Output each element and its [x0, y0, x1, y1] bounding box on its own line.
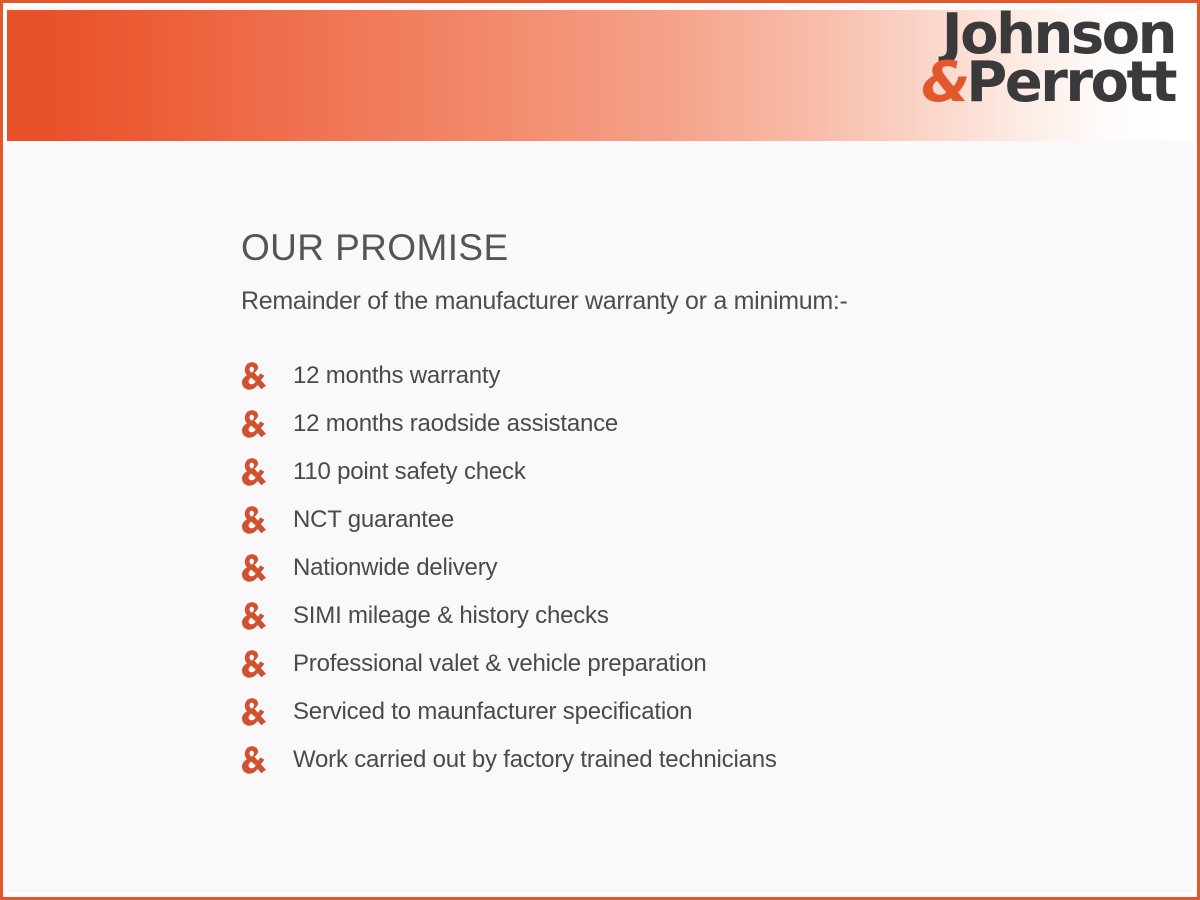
list-item: 12 months warranty: [241, 352, 1157, 400]
list-item: SIMI mileage & history checks: [241, 592, 1157, 640]
ampersand-icon: [241, 360, 271, 392]
logo-perrott: Perrott: [966, 50, 1175, 115]
list-item: 110 point safety check: [241, 448, 1157, 496]
list-item-label: 12 months warranty: [293, 362, 500, 390]
promise-list: 12 months warranty 12 months raodside as…: [241, 352, 1157, 784]
list-item: NCT guarantee: [241, 496, 1157, 544]
list-item-label: Serviced to maunfacturer specification: [293, 698, 692, 726]
list-item: 12 months raodside assistance: [241, 400, 1157, 448]
list-item-label: Professional valet & vehicle preparation: [293, 650, 707, 678]
ampersand-icon: [241, 648, 271, 680]
promise-page: Johnson &Perrott OUR PROMISE Remainder o…: [0, 0, 1200, 900]
page-subtitle: Remainder of the manufacturer warranty o…: [241, 287, 1157, 316]
list-item: Nationwide delivery: [241, 544, 1157, 592]
list-item-label: NCT guarantee: [293, 506, 454, 534]
logo-ampersand: &: [921, 50, 966, 115]
page-title: OUR PROMISE: [241, 227, 1157, 269]
list-item: Work carried out by factory trained tech…: [241, 736, 1157, 784]
list-item: Professional valet & vehicle preparation: [241, 640, 1157, 688]
ampersand-icon: [241, 696, 271, 728]
list-item-label: 110 point safety check: [293, 458, 526, 486]
ampersand-icon: [241, 504, 271, 536]
ampersand-icon: [241, 744, 271, 776]
ampersand-icon: [241, 600, 271, 632]
list-item-label: 12 months raodside assistance: [293, 410, 618, 438]
promise-content: OUR PROMISE Remainder of the manufacture…: [241, 227, 1157, 784]
ampersand-icon: [241, 408, 271, 440]
list-item-label: Work carried out by factory trained tech…: [293, 746, 777, 774]
brand-logo: Johnson &Perrott: [921, 11, 1175, 107]
logo-perrott-line: &Perrott: [921, 59, 1175, 107]
list-item: Serviced to maunfacturer specification: [241, 688, 1157, 736]
list-item-label: SIMI mileage & history checks: [293, 602, 609, 630]
ampersand-icon: [241, 552, 271, 584]
list-item-label: Nationwide delivery: [293, 554, 497, 582]
ampersand-icon: [241, 456, 271, 488]
